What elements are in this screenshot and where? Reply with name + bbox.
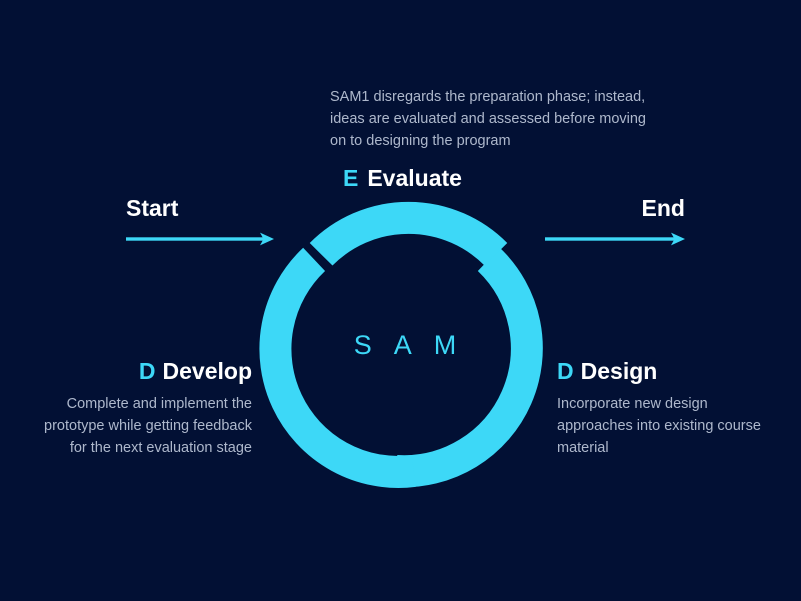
- diagram-canvas: S A M SAM1 disregards the preparation ph…: [0, 0, 801, 601]
- section-evaluate: SAM1 disregards the preparation phase; i…: [330, 86, 660, 192]
- section-design-title: Design: [581, 358, 658, 384]
- section-evaluate-title: Evaluate: [367, 165, 462, 191]
- end-arrow-group: End: [545, 197, 685, 246]
- center-label: S A M: [305, 330, 505, 361]
- ring-arc-evaluate: [321, 218, 496, 254]
- ring-arc-develop: [275, 259, 413, 472]
- ring-arc-design: [396, 259, 527, 471]
- section-evaluate-letter: E: [343, 165, 358, 191]
- section-develop-heading: DDevelop: [30, 359, 252, 385]
- section-design: DDesign Incorporate new design approache…: [557, 359, 782, 459]
- arrow-right-icon: [545, 232, 685, 246]
- start-arrow-group: Start: [126, 197, 274, 246]
- end-arrow-label: End: [545, 197, 685, 220]
- section-evaluate-heading: EEvaluate: [343, 166, 660, 192]
- section-evaluate-description: SAM1 disregards the preparation phase; i…: [330, 86, 660, 152]
- section-design-heading: DDesign: [557, 359, 782, 385]
- section-develop-title: Develop: [163, 358, 252, 384]
- section-design-description: Incorporate new design approaches into e…: [557, 393, 782, 459]
- section-develop: DDevelop Complete and implement the prot…: [30, 359, 252, 459]
- section-develop-letter: D: [139, 358, 156, 384]
- section-design-letter: D: [557, 358, 574, 384]
- arrow-right-icon: [126, 232, 274, 246]
- section-develop-description: Complete and implement the prototype whi…: [30, 393, 252, 459]
- start-arrow-label: Start: [126, 197, 274, 220]
